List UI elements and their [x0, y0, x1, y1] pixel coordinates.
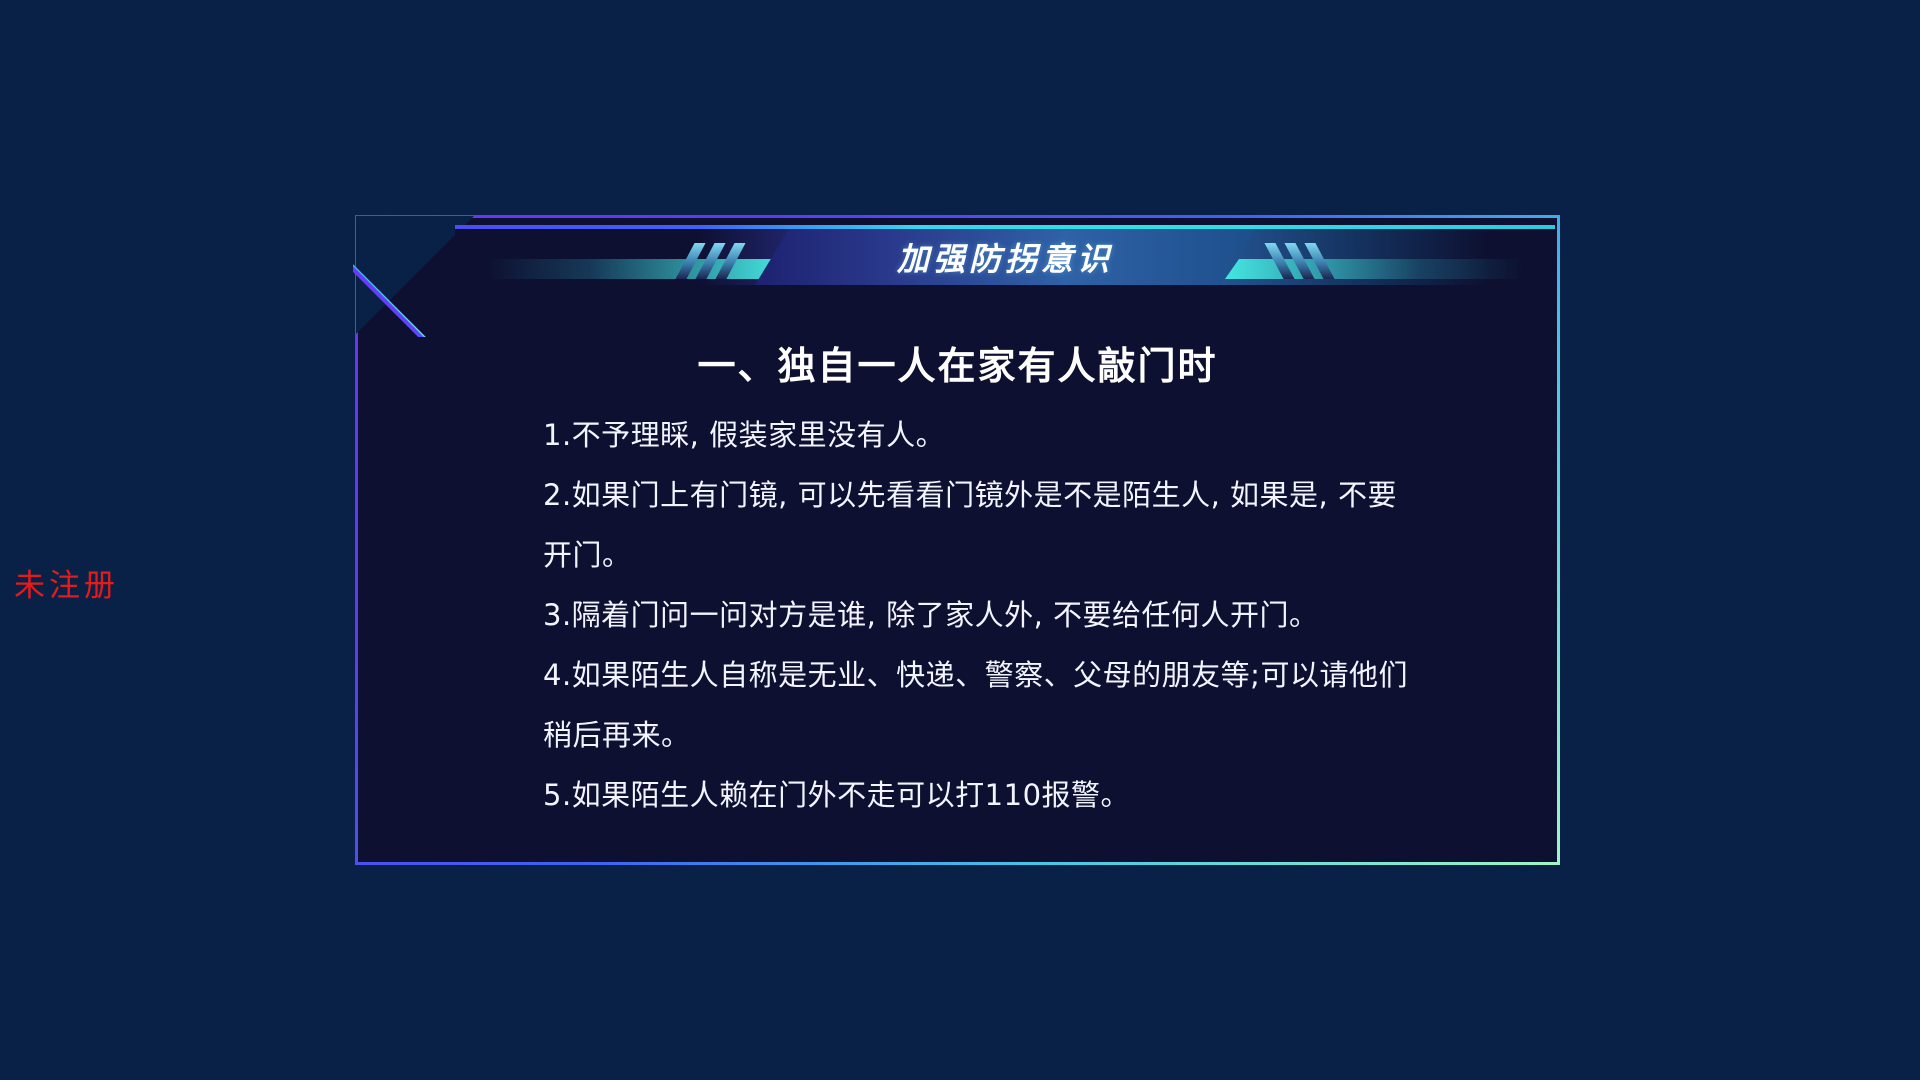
slide-card: 加强防拐意识 一、独自一人在家有人敲门时 1.不予理睬, 假装家里没有人。 2.… — [355, 215, 1560, 865]
list-item: 3.隔着门问一问对方是谁, 除了家人外, 不要给任何人开门。 — [543, 585, 1423, 645]
list-item: 4.如果陌生人自称是无业、快递、警察、父母的朋友等;可以请他们稍后再来。 — [543, 645, 1423, 765]
list-item: 5.如果陌生人赖在门外不走可以打110报警。 — [543, 765, 1423, 825]
banner-slashes-right — [1245, 243, 1325, 279]
title-banner: 加强防拐意识 — [455, 223, 1555, 295]
content-list: 1.不予理睬, 假装家里没有人。 2.如果门上有门镜, 可以先看看门镜外是不是陌… — [543, 405, 1423, 825]
section-heading: 一、独自一人在家有人敲门时 — [355, 335, 1560, 390]
banner-slashes-left — [685, 243, 765, 279]
list-item: 1.不予理睬, 假装家里没有人。 — [543, 405, 1423, 465]
banner-title: 加强防拐意识 — [755, 229, 1255, 285]
list-item: 2.如果门上有门镜, 可以先看看门镜外是不是陌生人, 如果是, 不要开门。 — [543, 465, 1423, 585]
unregistered-watermark: 未注册 — [14, 560, 119, 605]
